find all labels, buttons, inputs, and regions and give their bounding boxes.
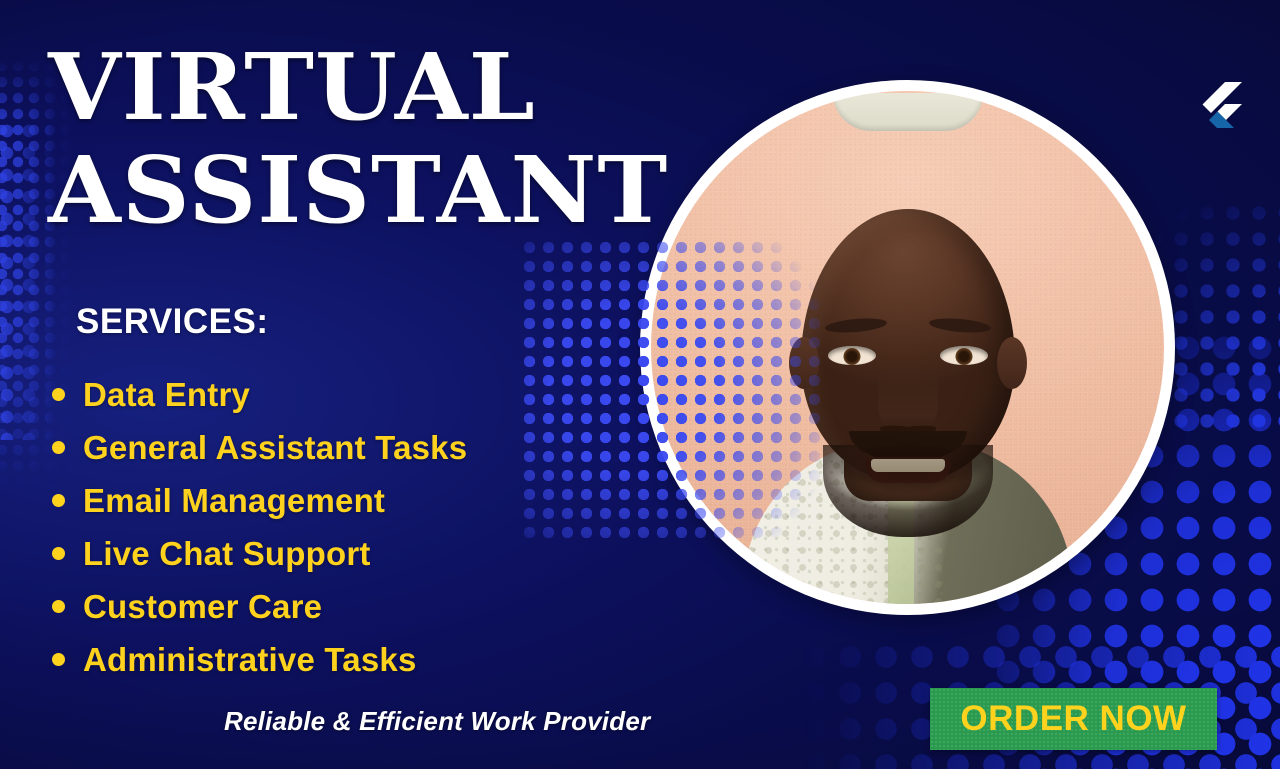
eyebrow-right	[928, 316, 991, 334]
title-line-1: VIRTUAL	[48, 36, 668, 139]
flutter-logo	[1198, 82, 1242, 141]
avatar	[640, 80, 1175, 615]
ear-left	[789, 337, 819, 389]
service-label: Live Chat Support	[83, 535, 371, 573]
list-item: Data Entry	[52, 368, 467, 421]
promo-poster: VIRTUAL ASSISTANT SERVICES: Data Entry G…	[0, 0, 1280, 769]
order-now-label: ORDER NOW	[960, 699, 1186, 739]
service-label: Email Management	[83, 482, 385, 520]
chin-shadow	[833, 445, 983, 485]
iris-left	[843, 348, 860, 365]
bullet-icon	[52, 441, 65, 454]
bullet-icon	[52, 494, 65, 507]
service-label: General Assistant Tasks	[83, 429, 467, 467]
service-label: Customer Care	[83, 588, 322, 626]
bullet-icon	[52, 388, 65, 401]
bullet-icon	[52, 600, 65, 613]
ear-right	[997, 337, 1027, 389]
list-item: Customer Care	[52, 580, 467, 633]
list-item: Live Chat Support	[52, 527, 467, 580]
order-now-button[interactable]: ORDER NOW	[930, 688, 1217, 750]
list-item: General Assistant Tasks	[52, 421, 467, 474]
eye-right	[940, 346, 988, 365]
portrait-photo	[651, 91, 1164, 604]
list-item: Administrative Tasks	[52, 633, 467, 686]
flutter-logo-icon	[1198, 82, 1242, 136]
services-heading: SERVICES:	[76, 302, 269, 342]
bullet-icon	[52, 547, 65, 560]
services-list: Data Entry General Assistant Tasks Email…	[52, 368, 467, 686]
list-item: Email Management	[52, 474, 467, 527]
tagline: Reliable & Efficient Work Provider	[224, 706, 650, 737]
title-line-2: ASSISTANT	[48, 139, 668, 242]
collar	[833, 93, 983, 131]
eyebrow-left	[824, 316, 887, 334]
bullet-icon	[52, 653, 65, 666]
eye-left	[828, 346, 876, 365]
service-label: Administrative Tasks	[83, 641, 417, 679]
iris-right	[955, 348, 972, 365]
service-label: Data Entry	[83, 376, 250, 414]
page-title: VIRTUAL ASSISTANT	[48, 36, 656, 242]
